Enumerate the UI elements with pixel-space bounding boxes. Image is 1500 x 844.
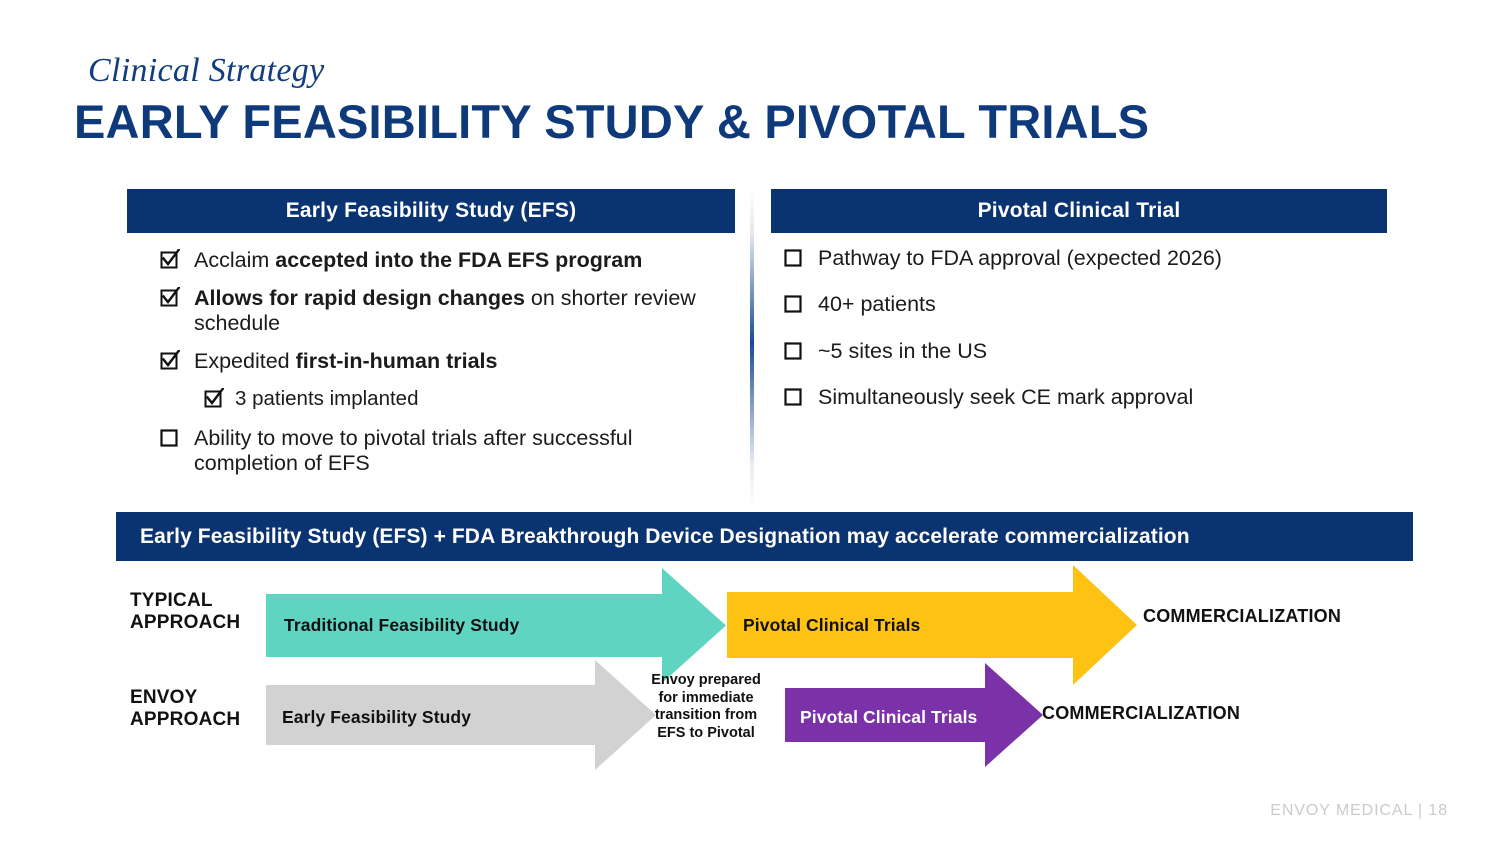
efs-bullet-text-1: Allows for rapid design changes on short… <box>194 286 720 335</box>
list-item: 40+ patients <box>784 292 1384 316</box>
pivotal-clinical-trials-label-typical: Pivotal Clinical Trials <box>743 605 1083 645</box>
empty-checkbox-icon <box>784 293 818 313</box>
pivotal-bullet-text-0: Pathway to FDA approval (expected 2026) <box>818 246 1384 270</box>
list-item: Simultaneously seek CE mark approval <box>784 385 1384 409</box>
efs-bullet-text-3: 3 patients implanted <box>235 387 720 410</box>
efs-bullet-text-0: Acclaim accepted into the FDA EFS progra… <box>194 248 720 272</box>
list-item: Allows for rapid design changes on short… <box>160 286 720 335</box>
commercialization-label-typical: COMMERCIALIZATION <box>1143 606 1341 627</box>
checked-checkbox-icon <box>204 388 235 408</box>
pivotal-panel-header: Pivotal Clinical Trial <box>771 189 1387 233</box>
empty-checkbox-icon <box>160 427 194 447</box>
pivotal-bullet-text-1: 40+ patients <box>818 292 1384 316</box>
approach-timeline-diagram: TYPICAL APPROACH ENVOY APPROACH Traditio… <box>0 560 1500 790</box>
pivotal-bullet-list: Pathway to FDA approval (expected 2026)4… <box>784 246 1384 431</box>
checked-checkbox-icon <box>160 249 194 269</box>
checked-checkbox-icon <box>160 350 194 370</box>
envoy-approach-label-line2: APPROACH <box>130 709 240 731</box>
efs-bullet-text-2: Expedited first-in-human trials <box>194 349 720 373</box>
pivotal-clinical-trials-label-envoy: Pivotal Clinical Trials <box>800 701 1000 733</box>
early-feasibility-study-arrow-label: Early Feasibility Study <box>282 700 612 734</box>
efs-panel-header: Early Feasibility Study (EFS) <box>127 189 735 233</box>
list-item: Pathway to FDA approval (expected 2026) <box>784 246 1384 270</box>
traditional-feasibility-arrow-label: Traditional Feasibility Study <box>284 605 684 645</box>
envoy-approach-label: ENVOY APPROACH <box>130 687 240 732</box>
efs-bullet-text-4: Ability to move to pivotal trials after … <box>194 426 720 475</box>
efs-bullet-list: Acclaim accepted into the FDA EFS progra… <box>160 248 720 489</box>
typical-approach-label: TYPICAL APPROACH <box>130 590 240 635</box>
column-divider <box>750 190 754 508</box>
pivotal-bullet-text-3: Simultaneously seek CE mark approval <box>818 385 1384 409</box>
empty-checkbox-icon <box>784 386 818 406</box>
empty-checkbox-icon <box>784 247 818 267</box>
slide-footer: ENVOY MEDICAL | 18 <box>1270 802 1448 820</box>
highlight-banner: Early Feasibility Study (EFS) + FDA Brea… <box>116 512 1413 561</box>
pivotal-bullet-text-2: ~5 sites in the US <box>818 339 1384 363</box>
typical-approach-label-line1: TYPICAL <box>130 590 240 612</box>
list-item: Acclaim accepted into the FDA EFS progra… <box>160 248 720 272</box>
envoy-approach-label-line1: ENVOY <box>130 687 240 709</box>
list-item: Expedited first-in-human trials <box>160 349 720 373</box>
checked-checkbox-icon <box>160 287 194 307</box>
page-title: EARLY FEASIBILITY STUDY & PIVOTAL TRIALS <box>74 94 1149 149</box>
list-item: Ability to move to pivotal trials after … <box>160 426 720 475</box>
commercialization-label-envoy: COMMERCIALIZATION <box>1042 703 1240 724</box>
list-item: ~5 sites in the US <box>784 339 1384 363</box>
transition-note: Envoy prepared for immediate transition … <box>641 672 771 743</box>
slide-eyebrow: Clinical Strategy <box>88 52 324 90</box>
list-item: 3 patients implanted <box>204 387 720 410</box>
typical-approach-label-line2: APPROACH <box>130 612 240 634</box>
empty-checkbox-icon <box>784 340 818 360</box>
